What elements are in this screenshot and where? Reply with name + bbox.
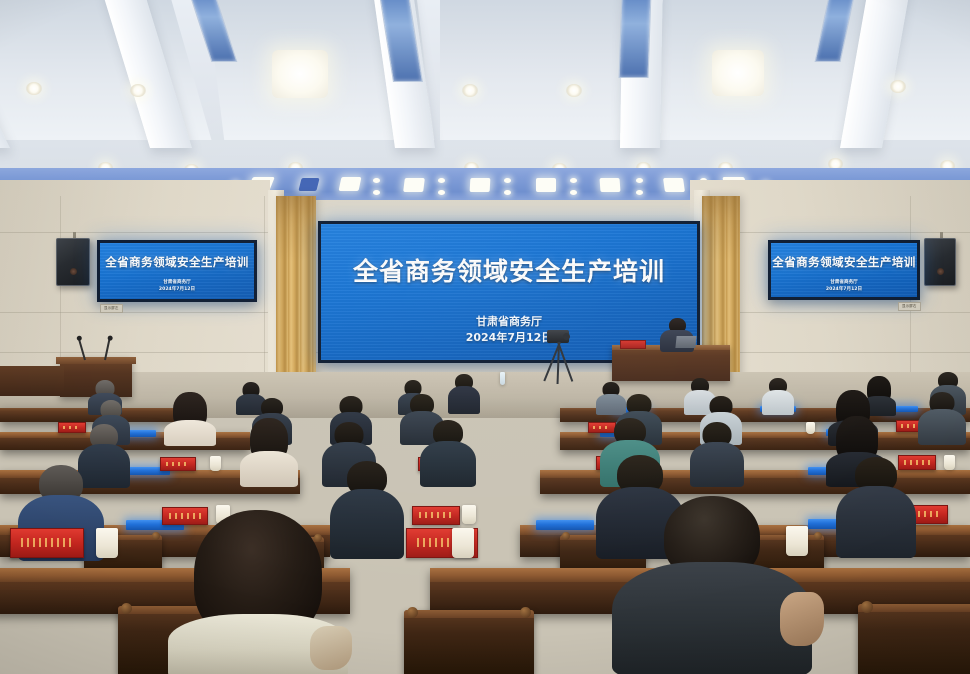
attendee: [164, 392, 216, 444]
paper-cup: [210, 456, 221, 471]
left-screen-subtitle: 甘肃省商务厅 2024年7月12日: [159, 280, 195, 294]
tripod-camera: [535, 330, 581, 382]
desk-placard: [412, 506, 460, 525]
paper-cup: [452, 528, 474, 558]
left-screen-title: 全省商务领域安全生产培训: [105, 254, 249, 270]
attendee: [420, 420, 476, 486]
left-led-screen: 全省商务领域安全生产培训 甘肃省商务厅 2024年7月12日: [97, 240, 257, 302]
ceiling-panel-light: [272, 50, 328, 98]
right-screen-organization: 甘肃省商务厅: [826, 280, 862, 287]
right-screen-caption: 显示屏右: [898, 302, 921, 311]
desk-monitor: [536, 520, 594, 530]
stage-curtain-left: [276, 196, 316, 382]
attendee: [448, 374, 480, 414]
attendee: [690, 422, 744, 486]
desk-placard: [160, 457, 196, 471]
paper-cup: [944, 455, 955, 470]
side-table-left: [0, 366, 64, 396]
right-screen-subtitle: 甘肃省商务厅 2024年7月12日: [826, 280, 862, 294]
desk-placard: [10, 528, 84, 558]
conference-hall-photo: 全省商务领域安全生产培训 甘肃省商务厅 2024年7月12日 全省商务领域安全生…: [0, 0, 970, 674]
water-bottle: [500, 372, 505, 385]
left-screen-organization: 甘肃省商务厅: [159, 280, 195, 287]
left-screen-date: 2024年7月12日: [159, 287, 195, 294]
attendee: [836, 457, 916, 557]
paper-cup: [96, 528, 118, 558]
attendee: [240, 418, 298, 486]
main-screen-organization: 甘肃省商务厅: [466, 314, 553, 330]
main-screen-title: 全省商务领域安全生产培训: [353, 252, 665, 288]
paper-cup: [806, 422, 815, 434]
right-screen-date: 2024年7月12日: [826, 287, 862, 294]
left-screen-caption: 显示屏左: [100, 304, 123, 313]
attendee: [762, 378, 794, 414]
ceiling-vent: [619, 0, 652, 78]
chair-back: [858, 604, 970, 674]
right-led-screen: 全省商务领域安全生产培训 甘肃省商务厅 2024年7月12日: [768, 240, 920, 300]
attendee-foreground-right: [612, 496, 812, 674]
presenter-laptop: [675, 336, 696, 348]
wall-speaker-right: [924, 238, 956, 286]
attendee-foreground-left: [168, 510, 348, 674]
paper-cup: [462, 505, 476, 524]
chair-back: [404, 610, 534, 674]
right-screen-title: 全省商务领域安全生产培训: [772, 254, 916, 270]
wall-speaker-left: [56, 238, 90, 286]
ceiling-panel-light: [712, 50, 764, 96]
attendee: [918, 392, 966, 444]
head-table-placard: [620, 340, 646, 349]
